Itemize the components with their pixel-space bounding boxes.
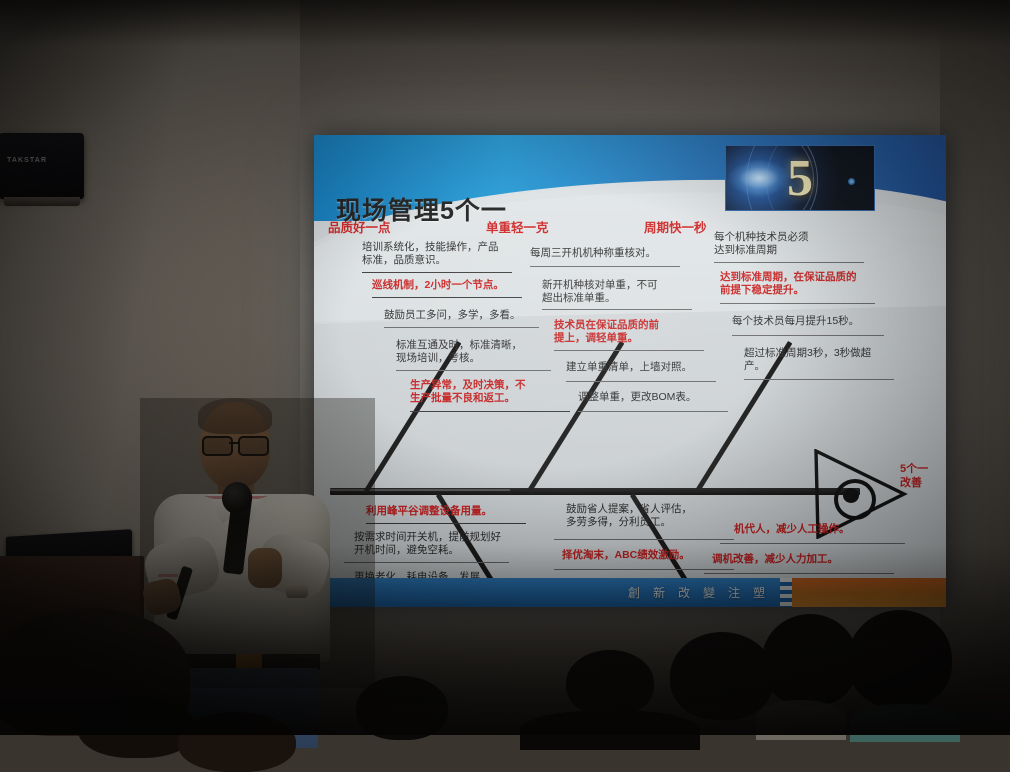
branch-heading-cycle: 周期快一秒 [644, 217, 707, 236]
item-weight-3: 技术员在保证品质的前 提上，调轻单重。 [554, 319, 704, 345]
speaker-mount [4, 197, 80, 206]
five-logo-graphic: 5 [725, 145, 875, 211]
item-quality-3: 鼓励员工多问，多学，多看。 [384, 309, 554, 322]
conference-room: TAKSTAR 5 现场管理5个一 [0, 0, 1010, 735]
fish-eye-pupil [843, 488, 859, 503]
speaker-brand-label: TAKSTAR [7, 157, 47, 164]
glasses-icon [202, 436, 268, 452]
logo-number: 5 [726, 146, 874, 210]
item-quality-4: 标准互通及时，标准清晰， 现场培训，考核。 [396, 339, 566, 365]
wall-speaker: TAKSTAR [0, 133, 86, 205]
item-cycle-3: 每个技术员每月提升15秒。 [732, 315, 912, 328]
item-people-1: 鼓励省人提案，省人评估， 多劳多得，分利员工。 [566, 503, 756, 529]
item-quality-1: 培训系统化，技能操作，产品 标准，品质意识。 [362, 241, 522, 267]
glasses-bridge [229, 442, 238, 444]
glasses-lens-right [238, 436, 269, 456]
item-weight-5: 调整单重，更改BOM表。 [578, 391, 758, 404]
item-cycle-2: 达到标准周期，在保证品质的 前提下稳定提升。 [720, 271, 900, 297]
item-weight-2: 新开机种核对单重，不可 超出标准单重。 [542, 279, 712, 305]
projection-screen: 5 现场管理5个一 5个一 改善 [314, 135, 946, 607]
item-quality-2: 巡线机制，2小时一个节点。 [372, 279, 542, 292]
item-quality-5: 生产异常，及时决策，不 生产批量不良和返工。 [410, 379, 585, 405]
branch-heading-weight: 单重轻一克 [486, 217, 549, 236]
item-cycle-1: 每个机种技术员必须 达到标准周期 [714, 231, 889, 257]
presenter-hair [198, 398, 272, 434]
fishbone-diagram: 5个一 改善 品质好一点 培训系统化，技能操作，产品 标准，品质意识。 巡线机制… [314, 221, 946, 576]
lower-room-shadow [0, 545, 1010, 735]
item-power-1: 利用峰平谷调整设备用量。 [366, 505, 566, 518]
glasses-lens-left [202, 436, 233, 456]
fishbone-effect-label: 5个一 改善 [900, 462, 946, 490]
ceiling-shadow [0, 0, 1010, 46]
speaker-body [0, 133, 84, 199]
item-auto-1: 机代人，减少人工操作。 [734, 523, 934, 536]
branch-heading-quality: 品质好一点 [328, 217, 391, 236]
item-weight-4: 建立单重清单，上墙对照。 [566, 361, 746, 374]
item-cycle-4: 超过标准周期3秒，3秒做超 产。 [744, 347, 919, 373]
item-weight-1: 每周三开机机种称重核对。 [530, 247, 710, 260]
